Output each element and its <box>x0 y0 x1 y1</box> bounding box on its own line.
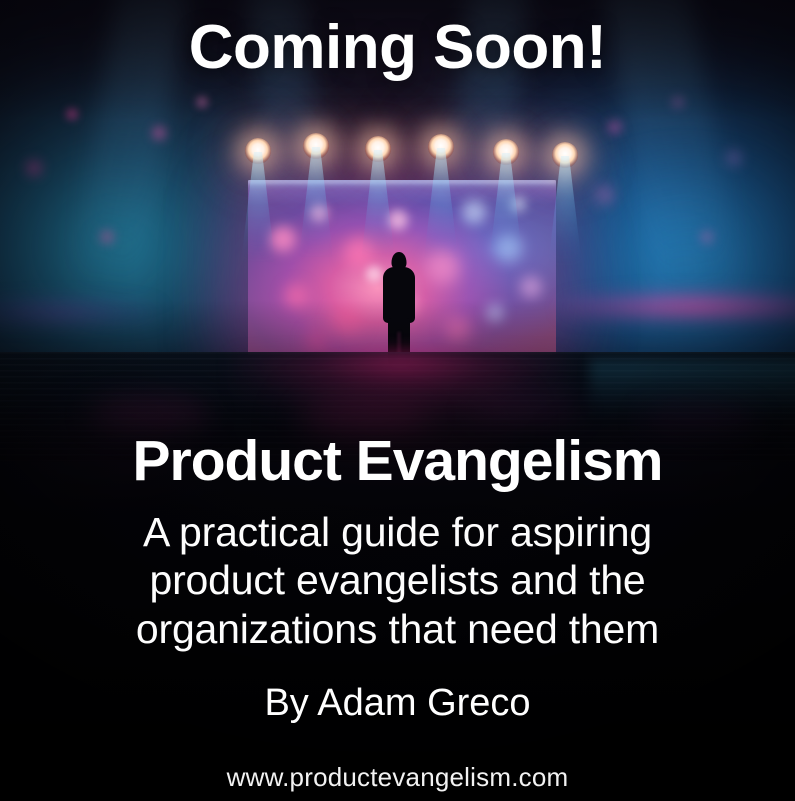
book-title: Product Evangelism <box>0 432 795 492</box>
coming-soon-kicker: Coming Soon! <box>0 17 795 79</box>
book-subtitle: A practical guide for aspiring product e… <box>0 508 795 653</box>
subtitle-line: A practical guide for aspiring <box>0 508 795 556</box>
author-byline: By Adam Greco <box>0 682 795 725</box>
website-url[interactable]: www.productevangelism.com <box>0 762 795 793</box>
subtitle-line: organizations that need them <box>0 605 795 653</box>
poster-canvas: Coming Soon! Product Evangelism A practi… <box>0 0 795 801</box>
subtitle-line: product evangelists and the <box>0 556 795 604</box>
poster-text-layer: Coming Soon! Product Evangelism A practi… <box>0 0 795 801</box>
